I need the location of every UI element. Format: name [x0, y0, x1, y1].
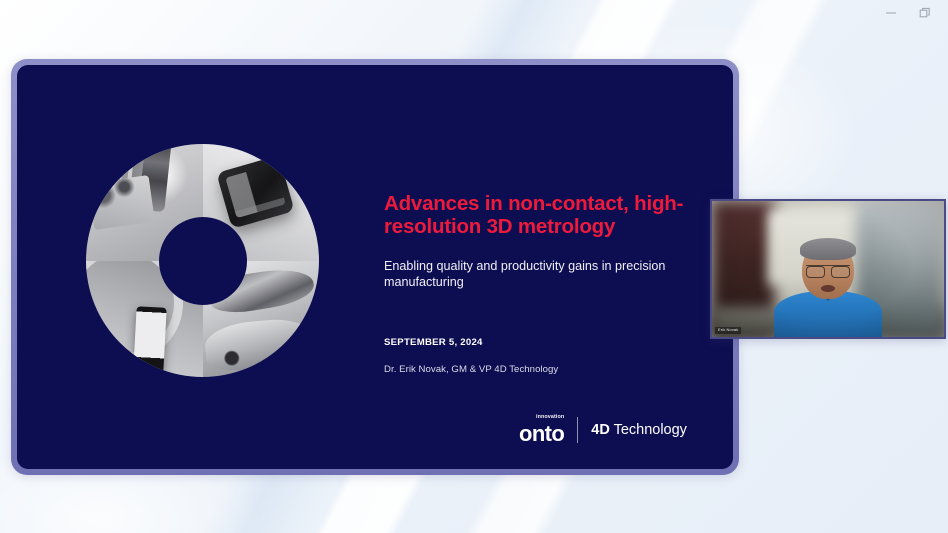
slide-canvas[interactable]: Advances in non-contact, high-resolution… — [17, 65, 733, 469]
collage-quadrant-robotics — [86, 144, 203, 261]
window-titlebar — [0, 0, 948, 26]
participant-name-label: Erik Novak — [715, 327, 741, 334]
collage-quadrant-automotive — [203, 261, 320, 378]
slide-frame: Advances in non-contact, high-resolution… — [11, 59, 739, 475]
presenter-video[interactable]: Erik Novak — [710, 199, 946, 339]
presenter-head — [802, 241, 854, 299]
minimize-icon — [885, 7, 897, 19]
fourd-prefix: 4D — [591, 422, 610, 438]
presentation-viewer: Advances in non-contact, high-resolution… — [0, 0, 948, 533]
fourd-suffix: Technology — [610, 422, 687, 438]
slide-logo-lockup: innovation onto 4D Technology — [519, 415, 687, 445]
presenter-glasses — [806, 265, 850, 277]
fourd-technology-logo: 4D Technology — [591, 423, 687, 438]
slide-text-block: Advances in non-contact, high-resolution… — [384, 193, 702, 375]
slide-subtitle: Enabling quality and productivity gains … — [384, 258, 702, 291]
presenter-hair — [800, 238, 856, 260]
presenter-mouth — [821, 285, 835, 292]
presenter-figure — [774, 241, 882, 337]
onto-innovation-logo: innovation onto — [519, 415, 564, 445]
onto-tagline: innovation — [536, 415, 564, 420]
slide-date: SEPTEMBER 5, 2024 — [384, 337, 702, 348]
restore-button[interactable] — [908, 1, 942, 25]
collage-quadrant-smartwatch — [203, 144, 320, 261]
collage-quadrant-smartphone — [86, 261, 203, 378]
slide-title: Advances in non-contact, high-resolution… — [384, 193, 702, 239]
logo-divider — [577, 417, 578, 443]
restore-window-icon — [919, 7, 931, 19]
minimize-button[interactable] — [874, 1, 908, 25]
onto-wordmark: onto — [519, 423, 564, 445]
slide-byline: Dr. Erik Novak, GM & VP 4D Technology — [384, 364, 702, 375]
donut-collage — [86, 144, 319, 377]
